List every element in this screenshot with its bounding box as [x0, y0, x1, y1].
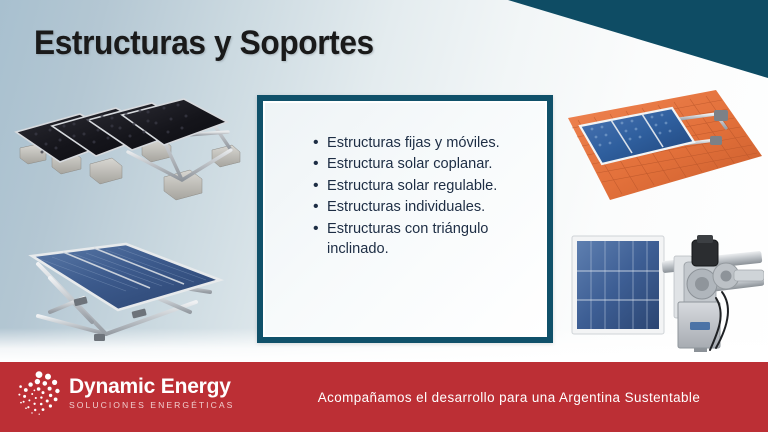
- list-item: Estructuras fijas y móviles.: [313, 133, 529, 153]
- bullet-list: Estructuras fijas y móviles. Estructura …: [297, 133, 529, 260]
- image-ground-mounted-solar-array-on-concrete-ballast: [6, 92, 242, 210]
- content-box: Estructuras fijas y móviles. Estructura …: [257, 95, 553, 343]
- image-solar-tracker-motor-assembly: [566, 226, 764, 352]
- list-item: Estructura solar regulable.: [313, 176, 529, 196]
- brand-name: Dynamic Energy: [69, 376, 234, 397]
- list-item: Estructura solar coplanar.: [313, 154, 529, 174]
- slide-canvas: Estructuras y Soportes Estructuras fijas…: [0, 0, 768, 432]
- page-title: Estructuras y Soportes: [34, 24, 374, 63]
- image-coplanar-roof-solar-mount: [566, 84, 764, 212]
- list-item: Estructuras individuales.: [313, 197, 529, 217]
- dynamic-energy-swirl-logo-icon: [16, 370, 62, 416]
- image-tilted-triangle-solar-structure: [14, 228, 236, 350]
- footer-slogan-text: Acompañamos el desarrollo para una Argen…: [318, 390, 701, 405]
- brand-tagline: SOLUCIONES ENERGÉTICAS: [69, 400, 234, 410]
- brand-logo: Dynamic Energy SOLUCIONES ENERGÉTICAS: [16, 370, 234, 416]
- footer-bar: Dynamic Energy SOLUCIONES ENERGÉTICAS Ac…: [0, 362, 768, 432]
- list-item: Estructuras con triángulo inclinado.: [313, 219, 529, 260]
- content-box-inner: Estructuras fijas y móviles. Estructura …: [263, 101, 547, 337]
- brand-wordmark: Dynamic Energy SOLUCIONES ENERGÉTICAS: [69, 376, 234, 410]
- top-right-teal-triangle-decoration: [508, 0, 768, 78]
